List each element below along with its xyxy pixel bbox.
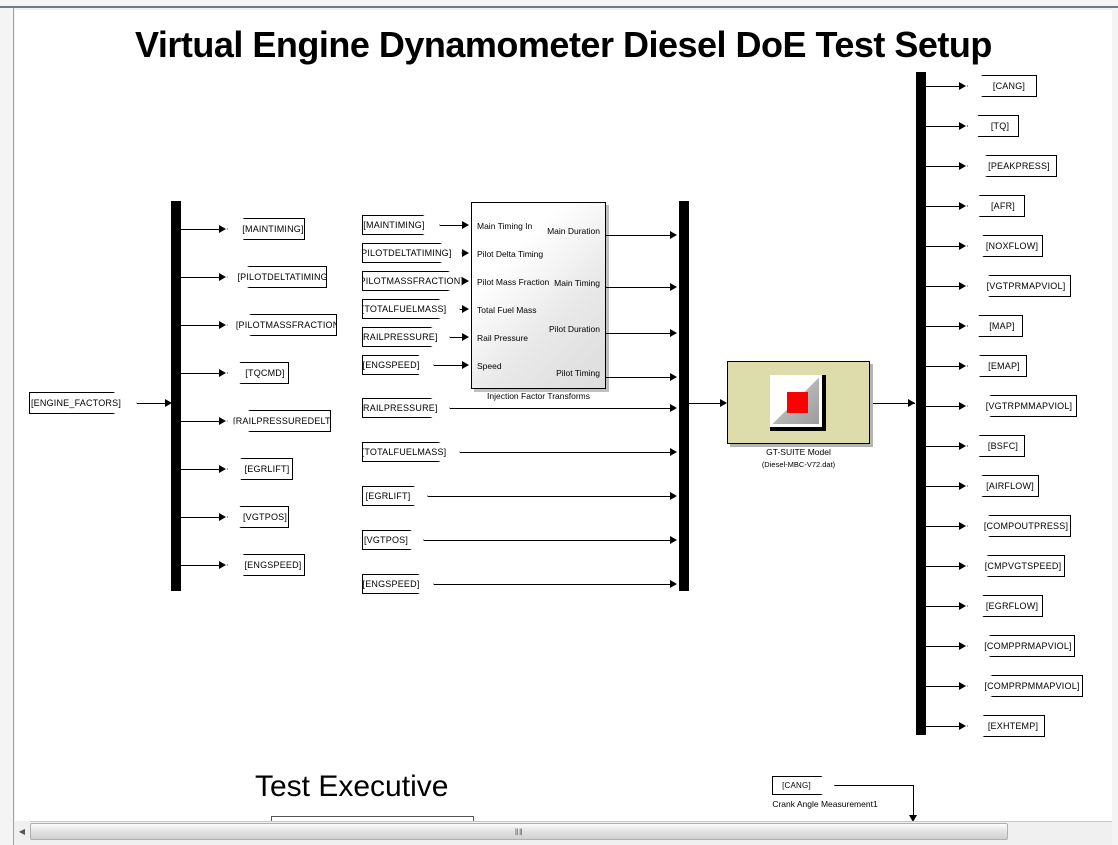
goto-tag-output-14[interactable]: [COMPPRMAPVIOL] xyxy=(967,635,1075,657)
wire-output-8 xyxy=(926,406,961,407)
goto-tag-factor-0[interactable]: [MAINTIMING] xyxy=(227,218,305,240)
from-tag-injection-5[interactable]: [ENGSPEED] xyxy=(362,355,434,375)
wire-direct-2 xyxy=(428,496,673,497)
wire-direct-3 xyxy=(424,540,673,541)
arrow-output-1 xyxy=(959,122,966,130)
arrow-direct-4 xyxy=(670,580,677,588)
arrow-inj-out-3 xyxy=(670,373,677,381)
demux-left[interactable] xyxy=(171,201,181,591)
from-tag-direct-3[interactable]: [VGTPOS] xyxy=(362,530,424,550)
arrow-factor-7 xyxy=(219,561,226,569)
wire-output-15 xyxy=(926,686,961,687)
arrow-inj-in-4 xyxy=(462,333,469,341)
from-tag-injection-4[interactable]: [RAILPRESSURE] xyxy=(362,327,450,347)
arrow-factor-3 xyxy=(219,369,226,377)
arrow-output-5 xyxy=(959,282,966,290)
goto-tag-factor-2[interactable]: [PILOTMASSFRACTION] xyxy=(227,314,337,336)
arrow-into-right-bus xyxy=(908,399,915,407)
wire-output-11 xyxy=(926,526,961,527)
arrow-inj-out-1 xyxy=(670,283,677,291)
from-tag-injection-3[interactable]: [TOTALFUELMASS] xyxy=(362,299,460,319)
arrow-output-14 xyxy=(959,642,966,650)
wire-output-10 xyxy=(926,486,961,487)
arrow-output-4 xyxy=(959,242,966,250)
wire-direct-0 xyxy=(450,408,673,409)
from-tag-injection-0[interactable]: [MAINTIMING] xyxy=(362,215,440,235)
wire-cang-h xyxy=(835,785,913,786)
arrow-inj-in-3 xyxy=(462,305,469,313)
injection-input-port-5: Speed xyxy=(477,361,502,371)
mux-middle[interactable] xyxy=(679,201,689,591)
page-title: Virtual Engine Dynamometer Diesel DoE Te… xyxy=(135,24,992,66)
wire-output-6 xyxy=(926,326,961,327)
arrow-inj-in-0 xyxy=(462,221,469,229)
from-tag-direct-0[interactable]: [RAILPRESSURE] xyxy=(362,398,450,418)
wire-factor-5 xyxy=(181,469,221,470)
wire-factor-6 xyxy=(181,517,221,518)
from-tag-injection-2[interactable]: [PILOTMASSFRACTION] xyxy=(362,271,472,291)
goto-tag-output-8[interactable]: [VGTRPMMAPVIOL] xyxy=(967,395,1077,417)
arrow-output-10 xyxy=(959,482,966,490)
arrow-factor-0 xyxy=(219,225,226,233)
wire-output-0 xyxy=(926,86,961,87)
goto-tag-output-1[interactable]: [TQ] xyxy=(967,115,1019,137)
injection-input-port-1: Pilot Delta Timing xyxy=(477,249,543,259)
wire-factor-2 xyxy=(181,325,221,326)
from-tag-engine-factors[interactable]: [ENGINE_FACTORS] xyxy=(29,392,137,414)
gt-suite-model-block[interactable] xyxy=(727,361,870,444)
wire-inj-in-5 xyxy=(434,365,464,366)
crank-angle-caption: Crank Angle Measurement1 xyxy=(750,799,900,809)
goto-tag-output-12[interactable]: [CMPVGTSPEED] xyxy=(967,555,1065,577)
wire-inj-out-0 xyxy=(606,235,673,236)
injection-input-port-3: Total Fuel Mass xyxy=(477,305,537,315)
goto-tag-output-3[interactable]: [AFR] xyxy=(967,195,1025,217)
injection-input-port-2: Pilot Mass Fraction xyxy=(477,277,549,287)
arrow-output-13 xyxy=(959,602,966,610)
from-tag-cang[interactable]: [CANG] xyxy=(772,776,835,795)
subsystem-injection-factor-transforms[interactable]: Main Timing InPilot Delta TimingPilot Ma… xyxy=(471,202,606,389)
arrow-output-3 xyxy=(959,202,966,210)
gt-suite-model-icon xyxy=(770,375,826,431)
test-executive-label: Test Executive xyxy=(255,770,448,804)
wire-output-4 xyxy=(926,246,961,247)
injection-input-port-4: Rail Pressure xyxy=(477,333,528,343)
wire-output-13 xyxy=(926,606,961,607)
arrow-factor-1 xyxy=(219,273,226,281)
scrollbar-grip-icon: ‖‖ xyxy=(515,827,523,837)
wire-inj-out-1 xyxy=(606,287,673,288)
arrow-inj-in-1 xyxy=(462,249,469,257)
goto-tag-factor-4[interactable]: [RAILPRESSUREDELTA] xyxy=(227,410,331,432)
goto-tag-output-10[interactable]: [AIRFLOW] xyxy=(967,475,1039,497)
arrow-direct-1 xyxy=(670,448,677,456)
horizontal-scrollbar-thumb[interactable]: ‖‖ xyxy=(30,823,1008,840)
window-top-border xyxy=(0,0,1118,8)
window-left-border xyxy=(0,8,14,845)
demux-right[interactable] xyxy=(916,72,926,735)
wire-output-9 xyxy=(926,446,961,447)
gt-suite-caption: GT-SUITE Model xyxy=(727,447,870,457)
injection-output-port-0: Main Duration xyxy=(547,226,600,236)
arrow-output-0 xyxy=(959,82,966,90)
gt-suite-subcaption: (Diesel-MBC-V72.dat) xyxy=(727,460,870,469)
arrow-output-2 xyxy=(959,162,966,170)
wire-factor-7 xyxy=(181,565,221,566)
arrow-output-6 xyxy=(959,322,966,330)
goto-tag-output-4[interactable]: [NOXFLOW] xyxy=(967,235,1043,257)
wire-direct-4 xyxy=(434,584,673,585)
simulink-model-window: Virtual Engine Dynamometer Diesel DoE Te… xyxy=(0,0,1118,845)
wire-inj-in-0 xyxy=(440,225,464,226)
goto-tag-factor-1[interactable]: [PILOTDELTATIMING] xyxy=(227,266,327,288)
wire-factor-1 xyxy=(181,277,221,278)
from-tag-direct-2[interactable]: [EGRLIFT] xyxy=(362,486,428,506)
wire-output-3 xyxy=(926,206,961,207)
arrow-output-7 xyxy=(959,362,966,370)
arrow-inj-out-0 xyxy=(670,231,677,239)
goto-tag-output-11[interactable]: [COMPOUTPRESS] xyxy=(967,515,1071,537)
injection-block-caption: Injection Factor Transforms xyxy=(471,391,606,401)
wire-output-12 xyxy=(926,566,961,567)
goto-tag-factor-6[interactable]: [VGTPOS] xyxy=(227,506,289,528)
goto-tag-factor-7[interactable]: [ENGSPEED] xyxy=(227,554,305,576)
window-right-border xyxy=(1112,8,1118,845)
goto-tag-output-5[interactable]: [VGTPRMAPVIOL] xyxy=(967,275,1071,297)
arrow-inj-in-2 xyxy=(462,277,469,285)
arrow-inj-in-5 xyxy=(462,361,469,369)
injection-output-port-3: Pilot Timing xyxy=(556,368,600,378)
wire-output-16 xyxy=(926,726,961,727)
arrow-factor-4 xyxy=(219,417,226,425)
arrow-direct-3 xyxy=(670,536,677,544)
arrow-output-15 xyxy=(959,682,966,690)
injection-input-port-0: Main Timing In xyxy=(477,221,532,231)
injection-output-port-1: Main Timing xyxy=(554,278,600,288)
arrow-factor-2 xyxy=(219,321,226,329)
arrow-output-16 xyxy=(959,722,966,730)
arrow-output-12 xyxy=(959,562,966,570)
wire-factor-3 xyxy=(181,373,221,374)
goto-tag-factor-5[interactable]: [EGRLIFT] xyxy=(227,458,293,480)
goto-tag-factor-3[interactable]: [TQCMD] xyxy=(227,362,289,384)
wire-inj-out-3 xyxy=(606,377,673,378)
gt-icon-red-square xyxy=(787,392,808,413)
arrow-factor-5 xyxy=(219,465,226,473)
from-tag-direct-4[interactable]: [ENGSPEED] xyxy=(362,574,434,594)
goto-tag-output-6[interactable]: [MAP] xyxy=(967,315,1023,337)
wire-output-1 xyxy=(926,126,961,127)
gt-icon-bevel xyxy=(770,375,822,427)
arrow-direct-2 xyxy=(670,492,677,500)
goto-tag-output-16[interactable]: [EXHTEMP] xyxy=(967,715,1045,737)
from-tag-injection-1[interactable]: [PILOTDELTATIMING] xyxy=(362,243,462,263)
arrow-output-8 xyxy=(959,402,966,410)
wire-factor-4 xyxy=(181,421,221,422)
model-canvas[interactable]: Virtual Engine Dynamometer Diesel DoE Te… xyxy=(15,10,1112,822)
wire-inj-out-2 xyxy=(606,333,673,334)
goto-tag-output-2[interactable]: [PEAKPRESS] xyxy=(967,155,1057,177)
goto-tag-output-0[interactable]: [CANG] xyxy=(967,75,1037,97)
arrow-output-9 xyxy=(959,442,966,450)
wire-output-7 xyxy=(926,366,961,367)
goto-tag-output-9[interactable]: [BSFC] xyxy=(967,435,1025,457)
arrow-output-11 xyxy=(959,522,966,530)
goto-tag-output-13[interactable]: [EGRFLOW] xyxy=(967,595,1043,617)
arrow-factor-6 xyxy=(219,513,226,521)
scroll-left-button[interactable]: ◀ xyxy=(14,821,30,842)
injection-output-port-2: Pilot Duration xyxy=(549,324,600,334)
goto-tag-output-15[interactable]: [COMPRPMMAPVIOL] xyxy=(967,675,1083,697)
wire-factor-0 xyxy=(181,229,221,230)
wire-output-2 xyxy=(926,166,961,167)
arrow-inj-out-2 xyxy=(670,329,677,337)
from-tag-direct-1[interactable]: [TOTALFUELMASS] xyxy=(362,442,460,462)
arrow-direct-0 xyxy=(670,404,677,412)
arrow-into-gtsuite xyxy=(720,399,727,407)
wire-output-5 xyxy=(926,286,961,287)
wire-direct-1 xyxy=(460,452,673,453)
wire-output-14 xyxy=(926,646,961,647)
goto-tag-output-7[interactable]: [EMAP] xyxy=(967,355,1027,377)
